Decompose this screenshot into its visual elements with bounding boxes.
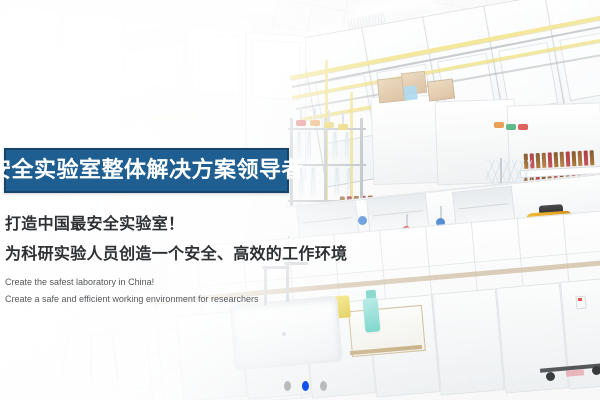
lab-equipment-silhouette — [76, 200, 120, 292]
valve-handle — [296, 120, 306, 126]
fume-hood — [6, 9, 60, 174]
blue-valve — [358, 216, 367, 225]
ceramic-sink — [229, 295, 342, 370]
faucet-spout — [262, 266, 288, 269]
upper-cabinet — [370, 95, 439, 185]
fume-hood — [186, 26, 246, 177]
valve-handle — [506, 124, 516, 130]
carousel-dot-1[interactable] — [284, 381, 291, 391]
bench-cabinet-door — [432, 288, 505, 395]
faucet-spout — [284, 262, 308, 265]
valve-handle — [494, 122, 504, 128]
round-basin-inner — [70, 320, 108, 329]
carousel-indicators[interactable] — [284, 381, 327, 391]
lab-equipment-silhouette — [132, 212, 168, 292]
valve-handle — [310, 120, 320, 126]
blue-carton — [403, 85, 417, 100]
lab-equipment-silhouette — [12, 176, 66, 286]
faucet-stem — [264, 266, 267, 306]
power-indicator — [578, 298, 582, 301]
valve-handle — [338, 124, 348, 130]
teal-soap-dispenser — [363, 297, 381, 332]
castor-wheel — [592, 366, 600, 375]
sink-drain — [282, 332, 286, 336]
basin-leg — [90, 332, 92, 380]
valve-handle — [518, 124, 528, 130]
castor-wheel — [546, 372, 555, 381]
cardboard-box — [427, 78, 455, 101]
carousel-dot-3[interactable] — [320, 381, 327, 391]
fume-hood — [64, 14, 124, 169]
carousel-dot-2[interactable] — [302, 381, 309, 391]
hero-banner-slide: 安全实验室整体解决方案领导者 打造中国最安全实验室！ 为科研实验人员创造一个安全… — [0, 0, 600, 400]
valve-handle — [324, 122, 334, 128]
lab-interior-photo — [0, 0, 600, 400]
bench-cabinet-door — [496, 282, 569, 393]
